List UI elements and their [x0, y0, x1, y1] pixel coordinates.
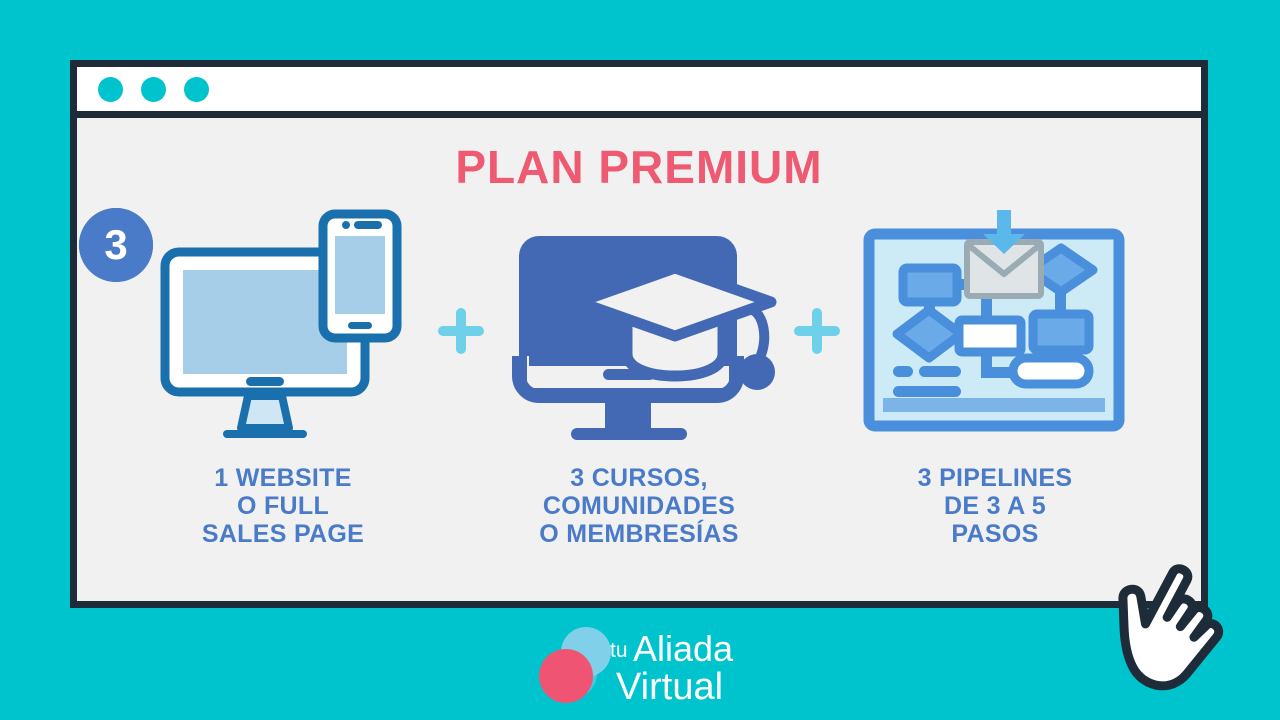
brand-logo: tu Aliada Virtual	[0, 626, 1280, 708]
feature-label-line: O FULL	[202, 492, 364, 520]
browser-window: PLAN PREMIUM	[70, 60, 1208, 608]
feature-label-line: DE 3 A 5	[918, 492, 1073, 520]
feature-badge-3: 3	[79, 208, 153, 282]
monitor-graduation-cap-icon	[499, 206, 779, 456]
feature-column-pipelines: 3 3 PIPELINES DE 3 A 5 PASOS	[845, 206, 1145, 548]
window-dot-2-icon[interactable]	[141, 77, 166, 102]
svg-text:tu: tu	[610, 639, 628, 662]
feature-label-line: COMUNIDADES	[539, 492, 738, 520]
feature-label-line: SALES PAGE	[202, 520, 364, 548]
feature-label-line: 1 WEBSITE	[202, 464, 364, 492]
plan-features-row: 1 1 WEBSITE O FULL SALES PAGE	[77, 206, 1201, 548]
window-dot-1-icon[interactable]	[98, 77, 123, 102]
feature-label-line: O MEMBRESÍAS	[539, 520, 738, 548]
feature-label-line: 3 CURSOS,	[539, 464, 738, 492]
feature-label-line: PASOS	[918, 520, 1073, 548]
window-dot-3-icon[interactable]	[184, 77, 209, 102]
svg-text:Virtual: Virtual	[616, 666, 723, 708]
feature-label-website: 1 WEBSITE O FULL SALES PAGE	[202, 464, 364, 548]
page-title: PLAN PREMIUM	[77, 140, 1201, 194]
browser-content: PLAN PREMIUM	[77, 118, 1201, 601]
feature-label-courses: 3 CURSOS, COMUNIDADES O MEMBRESÍAS	[539, 464, 738, 548]
browser-title-bar	[77, 67, 1201, 118]
pipeline-automation-icon	[855, 206, 1135, 456]
feature-label-pipelines: 3 PIPELINES DE 3 A 5 PASOS	[918, 464, 1073, 548]
monitor-phone-icon	[143, 206, 423, 456]
plus-separator-1-icon	[433, 206, 489, 456]
feature-column-courses: 3 3 CURSOS, COMUNIDADES O MEMBRESÍAS	[489, 206, 789, 548]
plus-separator-2-icon	[789, 206, 845, 456]
svg-text:Aliada: Aliada	[633, 628, 734, 669]
feature-column-website: 1 1 WEBSITE O FULL SALES PAGE	[133, 206, 433, 548]
feature-label-line: 3 PIPELINES	[918, 464, 1073, 492]
